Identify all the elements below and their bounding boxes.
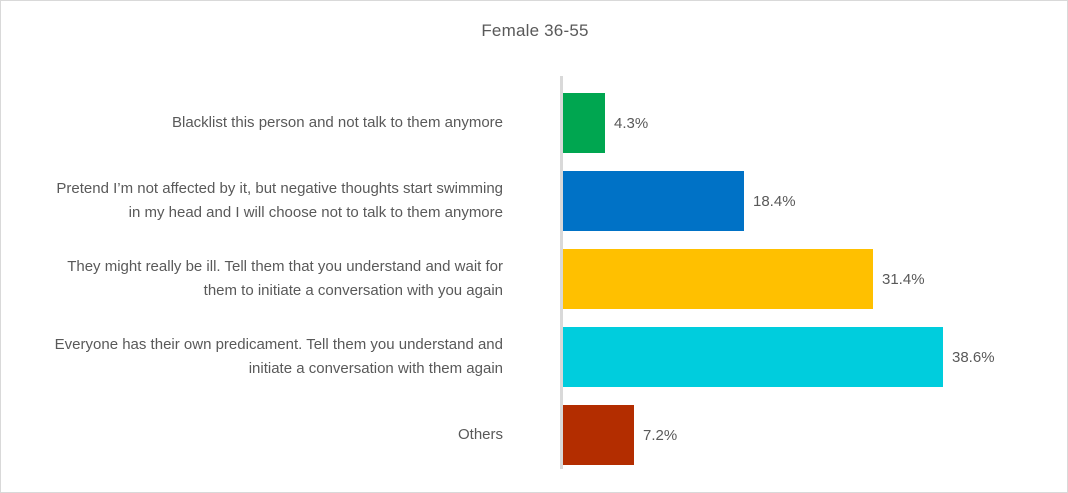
category-label-line: Others (458, 423, 503, 447)
bar-value-label: 7.2% (634, 396, 677, 474)
category-label-line: Blacklist this person and not talk to th… (172, 111, 503, 135)
bar-row: Pretend I’m not affected by it, but nega… (1, 162, 1068, 240)
bar-segment[interactable] (563, 327, 943, 387)
category-label-line: them to initiate a conversation with you… (204, 279, 503, 303)
chart-container: Female 36-55 Blacklist this person and n… (0, 0, 1068, 493)
bar-segment[interactable] (563, 405, 634, 465)
bar-value-label: 18.4% (744, 162, 796, 240)
bar-segment[interactable] (563, 249, 873, 309)
category-label: Pretend I’m not affected by it, but nega… (0, 162, 503, 240)
category-label-line: in my head and I will choose not to talk… (129, 201, 503, 225)
category-label: Everyone has their own predicament. Tell… (0, 318, 503, 396)
category-label: They might really be ill. Tell them that… (0, 240, 503, 318)
bar-value-label: 31.4% (873, 240, 925, 318)
bar-row: Others 7.2% (1, 396, 1068, 474)
bar-segment[interactable] (563, 171, 744, 231)
category-label: Blacklist this person and not talk to th… (0, 84, 503, 162)
bar-row: Blacklist this person and not talk to th… (1, 84, 1068, 162)
bar-segment[interactable] (563, 93, 605, 153)
category-label-line: They might really be ill. Tell them that… (67, 255, 503, 279)
bar-row: They might really be ill. Tell them that… (1, 240, 1068, 318)
bar-value-label: 4.3% (605, 84, 648, 162)
category-label-line: Everyone has their own predicament. Tell… (55, 333, 503, 357)
bar-row: Everyone has their own predicament. Tell… (1, 318, 1068, 396)
category-label-line: initiate a conversation with them again (249, 357, 503, 381)
category-label-line: Pretend I’m not affected by it, but nega… (56, 177, 503, 201)
plot-area: Blacklist this person and not talk to th… (1, 1, 1068, 493)
category-label: Others (0, 396, 503, 474)
bar-value-label: 38.6% (943, 318, 995, 396)
